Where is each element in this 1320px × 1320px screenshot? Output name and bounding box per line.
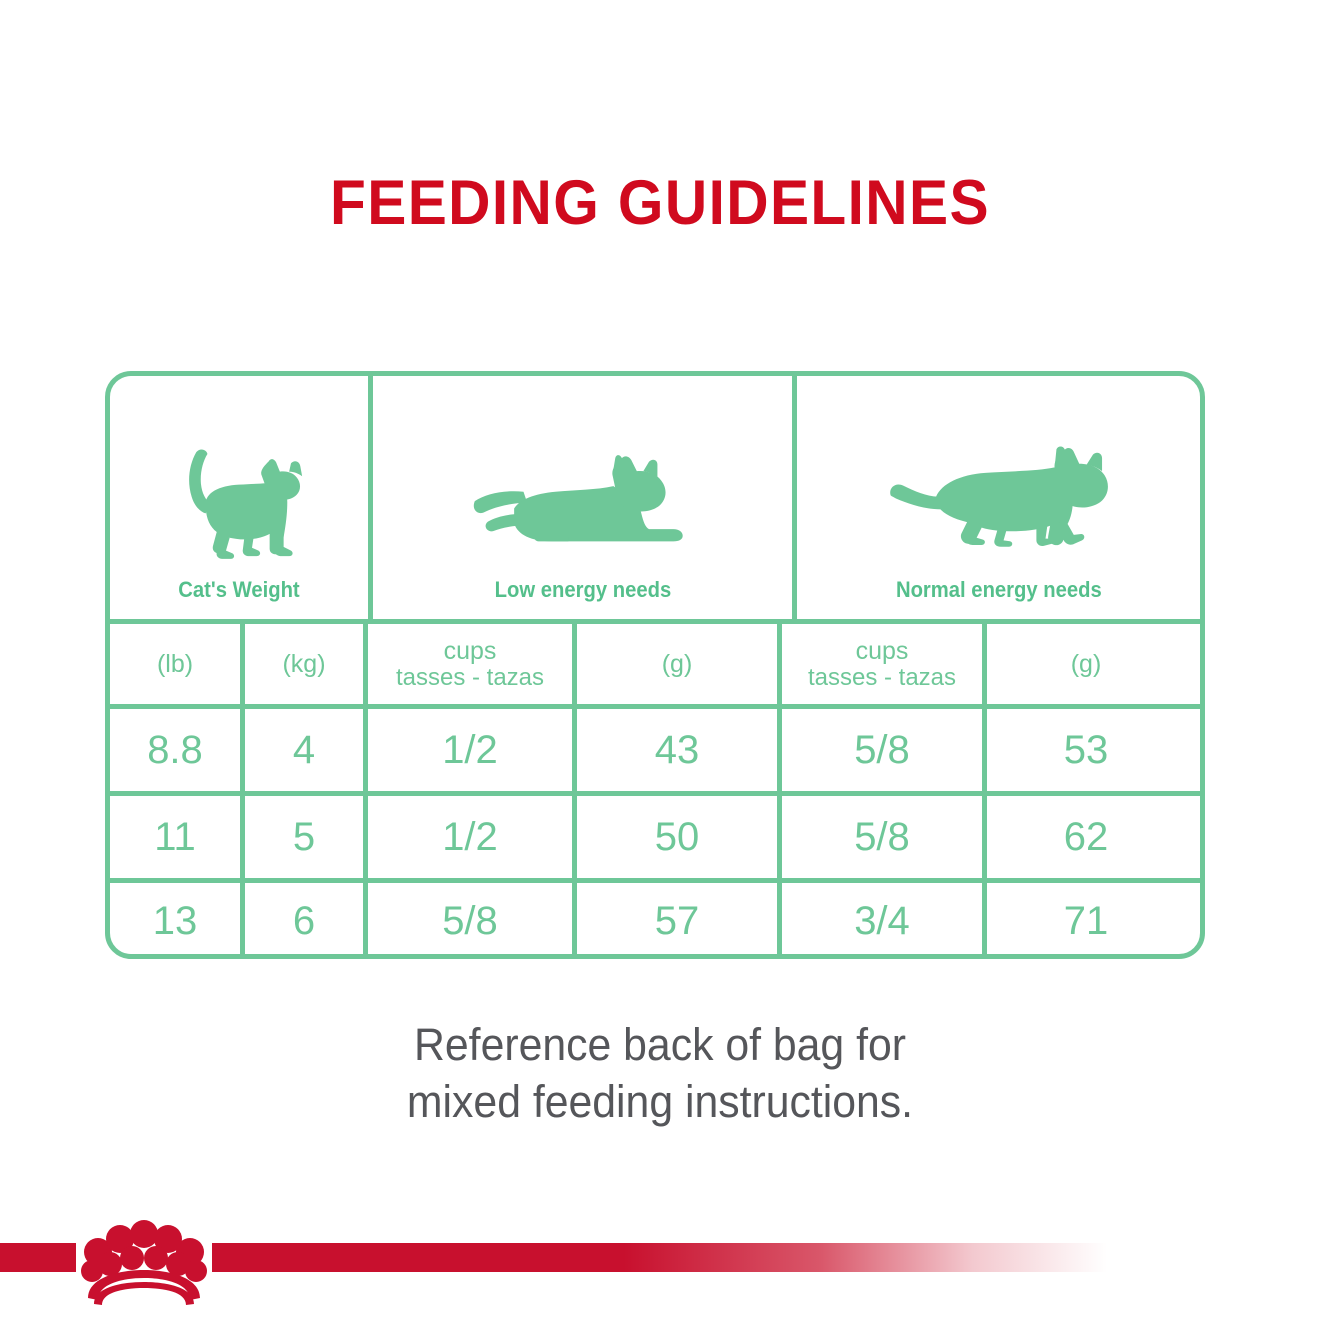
group-header-label: Normal energy needs (896, 579, 1102, 601)
cell-low-cups: 1/2 (363, 709, 572, 791)
cat-lying-icon (465, 443, 700, 579)
cell-normal-grams: 62 (982, 796, 1185, 878)
cell-weight-kg: 5 (240, 796, 363, 878)
group-header-label: Low energy needs (494, 579, 671, 601)
cell-weight-kg: 6 (240, 883, 363, 959)
table-unit-header-row: (lb) (kg) cups tasses - tazas (g) cups t… (110, 619, 1200, 704)
footer-note-line-2: mixed feeding instructions. (33, 1073, 1287, 1130)
group-header-cats-weight: Cat's Weight (110, 376, 368, 619)
page-title: FEEDING GUIDELINES (46, 172, 1274, 235)
footer-note-line-1: Reference back of bag for (33, 1016, 1287, 1073)
cell-low-grams: 50 (572, 796, 777, 878)
table-group-header-row: Cat's Weight (110, 376, 1200, 619)
cell-weight-kg: 4 (240, 709, 363, 791)
unit-header-kg: (kg) (240, 624, 363, 704)
brand-banner (0, 1208, 1320, 1320)
cell-normal-grams: 53 (982, 709, 1185, 791)
cat-standing-icon (164, 441, 314, 579)
table-row: 11 5 1/2 50 5/8 62 (110, 791, 1200, 878)
unit-header-low-grams: (g) (572, 624, 777, 704)
table-row: 13 6 5/8 57 3/4 71 (110, 878, 1200, 959)
unit-header-low-cups: cups tasses - tazas (363, 624, 572, 704)
table-row: 8.8 4 1/2 43 5/8 53 (110, 704, 1200, 791)
banner-bar-right (212, 1243, 1107, 1272)
cell-weight-lb: 13 (110, 883, 240, 959)
group-header-label: Cat's Weight (178, 579, 299, 601)
unit-header-lb: (lb) (110, 624, 240, 704)
cell-weight-lb: 11 (110, 796, 240, 878)
cell-low-cups: 5/8 (363, 883, 572, 959)
cell-normal-cups: 5/8 (777, 796, 982, 878)
cell-normal-grams: 71 (982, 883, 1185, 959)
footer-note: Reference back of bag for mixed feeding … (33, 1016, 1287, 1130)
cell-normal-cups: 3/4 (777, 883, 982, 959)
cat-walking-icon (885, 443, 1113, 579)
banner-bar-left (0, 1243, 76, 1272)
cell-low-grams: 43 (572, 709, 777, 791)
cell-normal-cups: 5/8 (777, 709, 982, 791)
royal-canin-crown-icon (72, 1216, 216, 1308)
group-header-normal-energy: Normal energy needs (792, 376, 1200, 619)
unit-header-normal-grams: (g) (982, 624, 1185, 704)
cell-low-grams: 57 (572, 883, 777, 959)
group-header-low-energy: Low energy needs (368, 376, 792, 619)
unit-header-normal-cups: cups tasses - tazas (777, 624, 982, 704)
feeding-guidelines-table: Cat's Weight (105, 371, 1205, 959)
cell-low-cups: 1/2 (363, 796, 572, 878)
cell-weight-lb: 8.8 (110, 709, 240, 791)
